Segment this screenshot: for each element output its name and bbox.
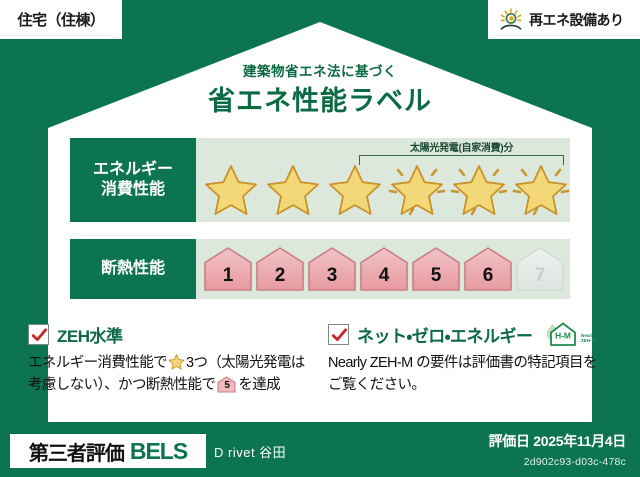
zeh-desc-part3: を達成 [238,377,280,393]
zeh-standard-checkbox[interactable] [28,324,49,345]
insulation-badge-2: 2 [254,246,306,292]
energy-star-rating [200,160,568,220]
renewable-equipment-tag: 再エネ設備あり [488,0,640,39]
criteria-left-header: ZEH水準 [28,322,306,346]
insulation-performance-label: 断熱性能 [70,239,196,299]
net-zero-energy-description: Nearly ZEH-M の要件は評価書の特記項目をご覧ください。 [328,353,606,397]
criteria-right-header: ネット・ゼロ・エネルギー H-M Nearly ZEH-M [328,322,606,346]
star-icon [200,160,262,220]
criteria-zeh-standard: ZEH水準 エネルギー消費性能で3つ（太陽光発電は考慮しない）、かつ断熱性能で5… [28,322,306,397]
energy-label-line1: エネルギー [93,160,173,180]
insulation-badge-6: 6 [462,246,514,292]
insulation-badge-value: 7 [514,265,566,287]
building-type-label: 住宅（住棟） [17,9,104,30]
insulation-performance-body: 1 2 3 4 5 6 7 [196,239,570,299]
insulation-level-inline-badge: 5 [217,376,236,393]
page-title: 省エネ性能ラベル [0,79,640,118]
net-zero-energy-title: ネット・ゼロ・エネルギー [357,322,533,347]
evaluation-date: 評価日 2025年11月4日 [489,431,626,451]
solar-bracket-label: 太陽光発電(自家消費)分 [359,139,564,154]
energy-performance-row: エネルギー 消費性能 太陽光発電(自家消費)分 [70,138,570,222]
insulation-badge-value: 1 [202,265,254,287]
star-icon [324,160,386,220]
insulation-badge-value: 2 [254,265,306,287]
criteria-net-zero-energy: ネット・ゼロ・エネルギー H-M Nearly ZEH-M Nearly ZEH… [328,322,606,397]
bels-en-label: BELS [130,438,187,465]
energy-performance-body: 太陽光発電(自家消費)分 [196,138,570,222]
energy-performance-label: エネルギー 消費性能 [70,138,196,222]
zeh-standard-title: ZEH水準 [57,322,123,347]
net-zero-energy-checkbox[interactable] [328,324,349,345]
insulation-label-text: 断熱性能 [101,259,165,279]
star-icon [168,354,185,370]
energy-label-line2: 消費性能 [101,180,165,200]
bels-jp-label: 第三者評価 [29,437,124,466]
insulation-badge-scale: 1 2 3 4 5 6 7 [202,239,566,299]
insulation-badge-4: 4 [358,246,410,292]
star-icon [262,160,324,220]
energy-label-root: 住宅（住棟） 再エネ設備あり 建築物省エネ法に基づく 省エ [0,0,640,477]
insulation-badge-5: 5 [410,246,462,292]
star-icon-solar [448,160,510,220]
insulation-badge-3: 3 [306,246,358,292]
zeh-standard-description: エネルギー消費性能で3つ（太陽光発電は考慮しない）、かつ断熱性能で5を達成 [28,353,306,397]
inline-badge-value: 5 [217,378,236,393]
insulation-badge-1: 1 [202,246,254,292]
star-icon-solar [510,160,572,220]
zeh-desc-part1: エネルギー消費性能で [28,355,167,371]
svg-text:ZEH-M: ZEH-M [581,338,596,343]
insulation-badge-7: 7 [514,246,566,292]
star-icon-solar [386,160,448,220]
building-type-tag: 住宅（住棟） [0,0,122,39]
insulation-performance-row: 断熱性能 1 2 3 4 5 6 [70,239,570,299]
insulation-badge-value: 6 [462,265,514,287]
insulation-badge-value: 5 [410,265,462,287]
label-uid: 2d902c93-d03c-478c [524,456,626,468]
svg-text:H-M: H-M [555,330,571,340]
nearly-zeh-m-logo: H-M Nearly ZEH-M [544,321,602,347]
label-subtitle: 建築物省エネ法に基づく [0,60,640,80]
owner-name: D rivet 谷田 [214,442,286,461]
insulation-badge-value: 3 [306,265,358,287]
sun-renewable-icon [498,8,524,32]
insulation-badge-value: 4 [358,265,410,287]
renewable-tag-label: 再エネ設備あり [529,10,624,30]
bels-third-party-badge: 第三者評価 BELS [10,434,206,468]
